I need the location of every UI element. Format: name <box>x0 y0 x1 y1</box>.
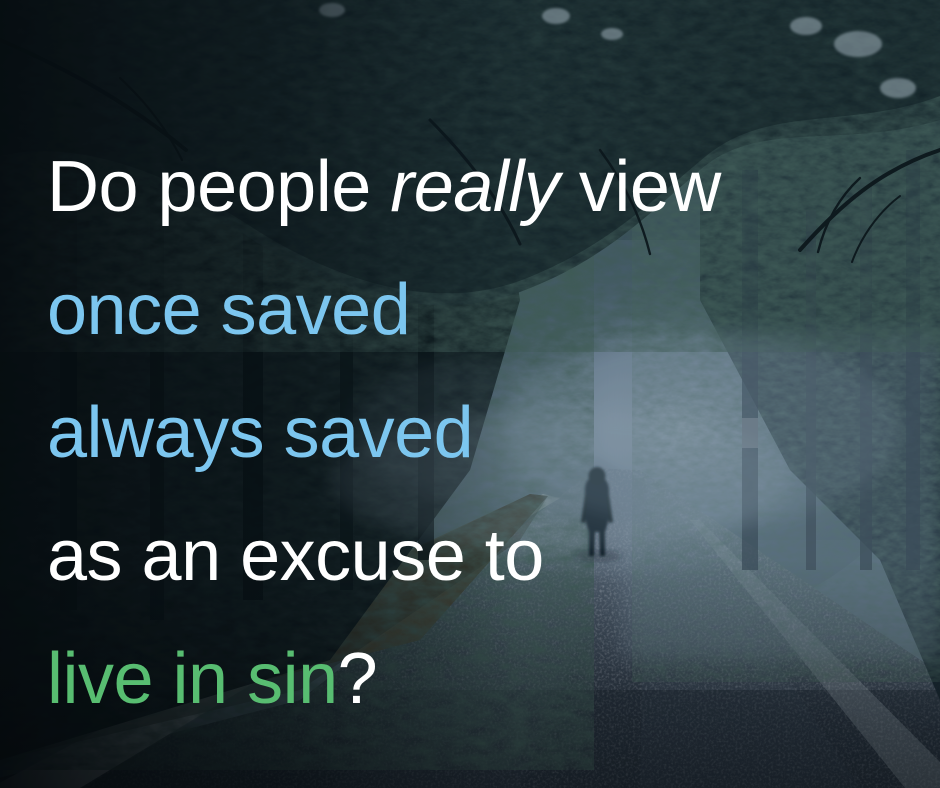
quote-poster: Do people really view once saved always … <box>0 0 940 788</box>
background-photo <box>0 0 940 788</box>
color-grade <box>0 0 940 788</box>
